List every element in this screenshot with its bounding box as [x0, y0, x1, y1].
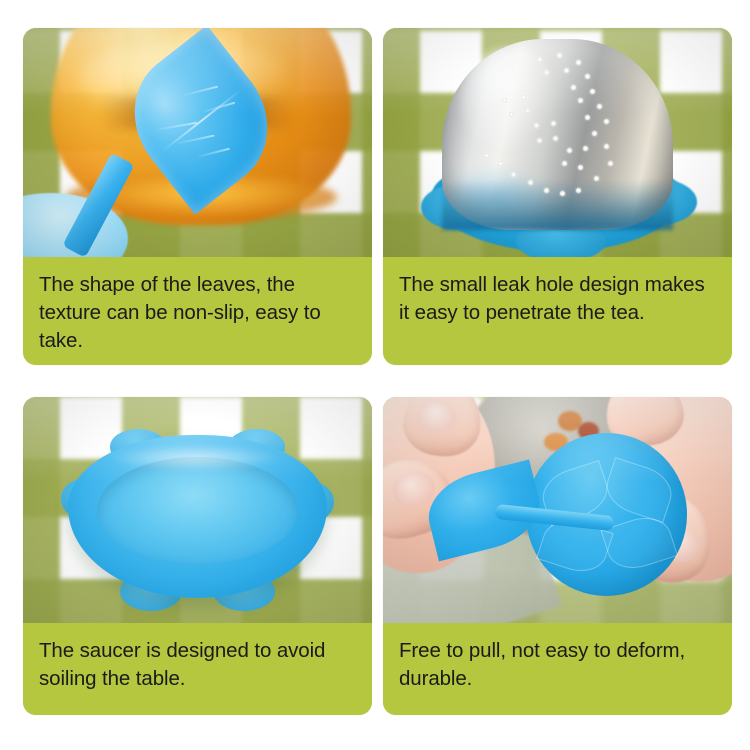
caption-text: The shape of the leaves, the texture can… — [39, 271, 356, 355]
infuser-hole — [597, 104, 602, 109]
infuser-hole — [583, 146, 588, 151]
leaf-vein — [184, 85, 218, 95]
silicone-saucer-dish — [68, 435, 326, 598]
infuser-hole — [551, 121, 556, 126]
saucer-rim-highlight — [110, 445, 280, 471]
infuser-hole — [509, 112, 514, 117]
saucer-inner-basin — [97, 457, 298, 564]
infuser-hole — [604, 144, 609, 149]
infuser-hole — [567, 148, 572, 153]
infuser-hole — [585, 74, 590, 79]
leaf-shape-photo — [23, 28, 372, 257]
infuser-hole — [562, 161, 567, 166]
infuser-hole — [578, 165, 583, 170]
infuser-hole — [553, 136, 558, 141]
caption-text: The small leak hole design makes it easy… — [399, 271, 716, 327]
infuser-hole — [592, 131, 597, 136]
leaf-midrib-vein — [161, 89, 241, 152]
saucer-photo — [23, 397, 372, 623]
infuser-hole — [564, 68, 569, 73]
infuser-hole — [528, 180, 533, 185]
infuser-hole — [537, 57, 542, 62]
dome-bottom-shadow — [442, 180, 672, 229]
infuser-hole — [608, 161, 613, 166]
cap-leaf-emboss — [601, 457, 679, 523]
feature-grid: The shape of the leaves, the texture can… — [23, 28, 727, 716]
infuser-hole — [576, 188, 581, 193]
left-index-nail — [418, 402, 456, 431]
infuser-hole — [590, 89, 595, 94]
durability-photo — [383, 397, 732, 623]
caption-text: The saucer is designed to avoid soiling … — [39, 637, 356, 693]
caption-band: The small leak hole design makes it easy… — [383, 257, 732, 365]
infuser-hole — [604, 119, 609, 124]
steel-infuser-dome — [442, 39, 672, 229]
infuser-hole — [576, 60, 581, 65]
leaf-vein — [197, 147, 229, 156]
infuser-hole — [578, 98, 583, 103]
infuser-hole — [544, 70, 549, 75]
caption-band: The saucer is designed to avoid soiling … — [23, 623, 372, 715]
dome-sheen — [461, 47, 558, 153]
infuser-hole — [537, 138, 542, 143]
infuser-hole — [544, 188, 549, 193]
leak-hole-photo — [383, 28, 732, 257]
infuser-hole — [521, 95, 526, 100]
feature-card-durability[interactable]: Free to pull, not easy to deform, durabl… — [383, 397, 732, 715]
feature-card-leak-hole[interactable]: The small leak hole design makes it easy… — [383, 28, 732, 365]
leaf-vein — [204, 101, 236, 111]
product-feature-page: The shape of the leaves, the texture can… — [0, 0, 750, 750]
infuser-hole — [571, 85, 576, 90]
feature-card-saucer[interactable]: The saucer is designed to avoid soiling … — [23, 397, 372, 715]
infuser-hole — [585, 115, 590, 120]
infuser-hole — [557, 53, 562, 58]
feature-card-leaf-shape[interactable]: The shape of the leaves, the texture can… — [23, 28, 372, 365]
infuser-hole — [484, 153, 489, 158]
caption-band: Free to pull, not easy to deform, durabl… — [383, 623, 732, 715]
caption-text: Free to pull, not easy to deform, durabl… — [399, 637, 716, 693]
caption-band: The shape of the leaves, the texture can… — [23, 257, 372, 365]
infuser-hole — [498, 161, 503, 166]
